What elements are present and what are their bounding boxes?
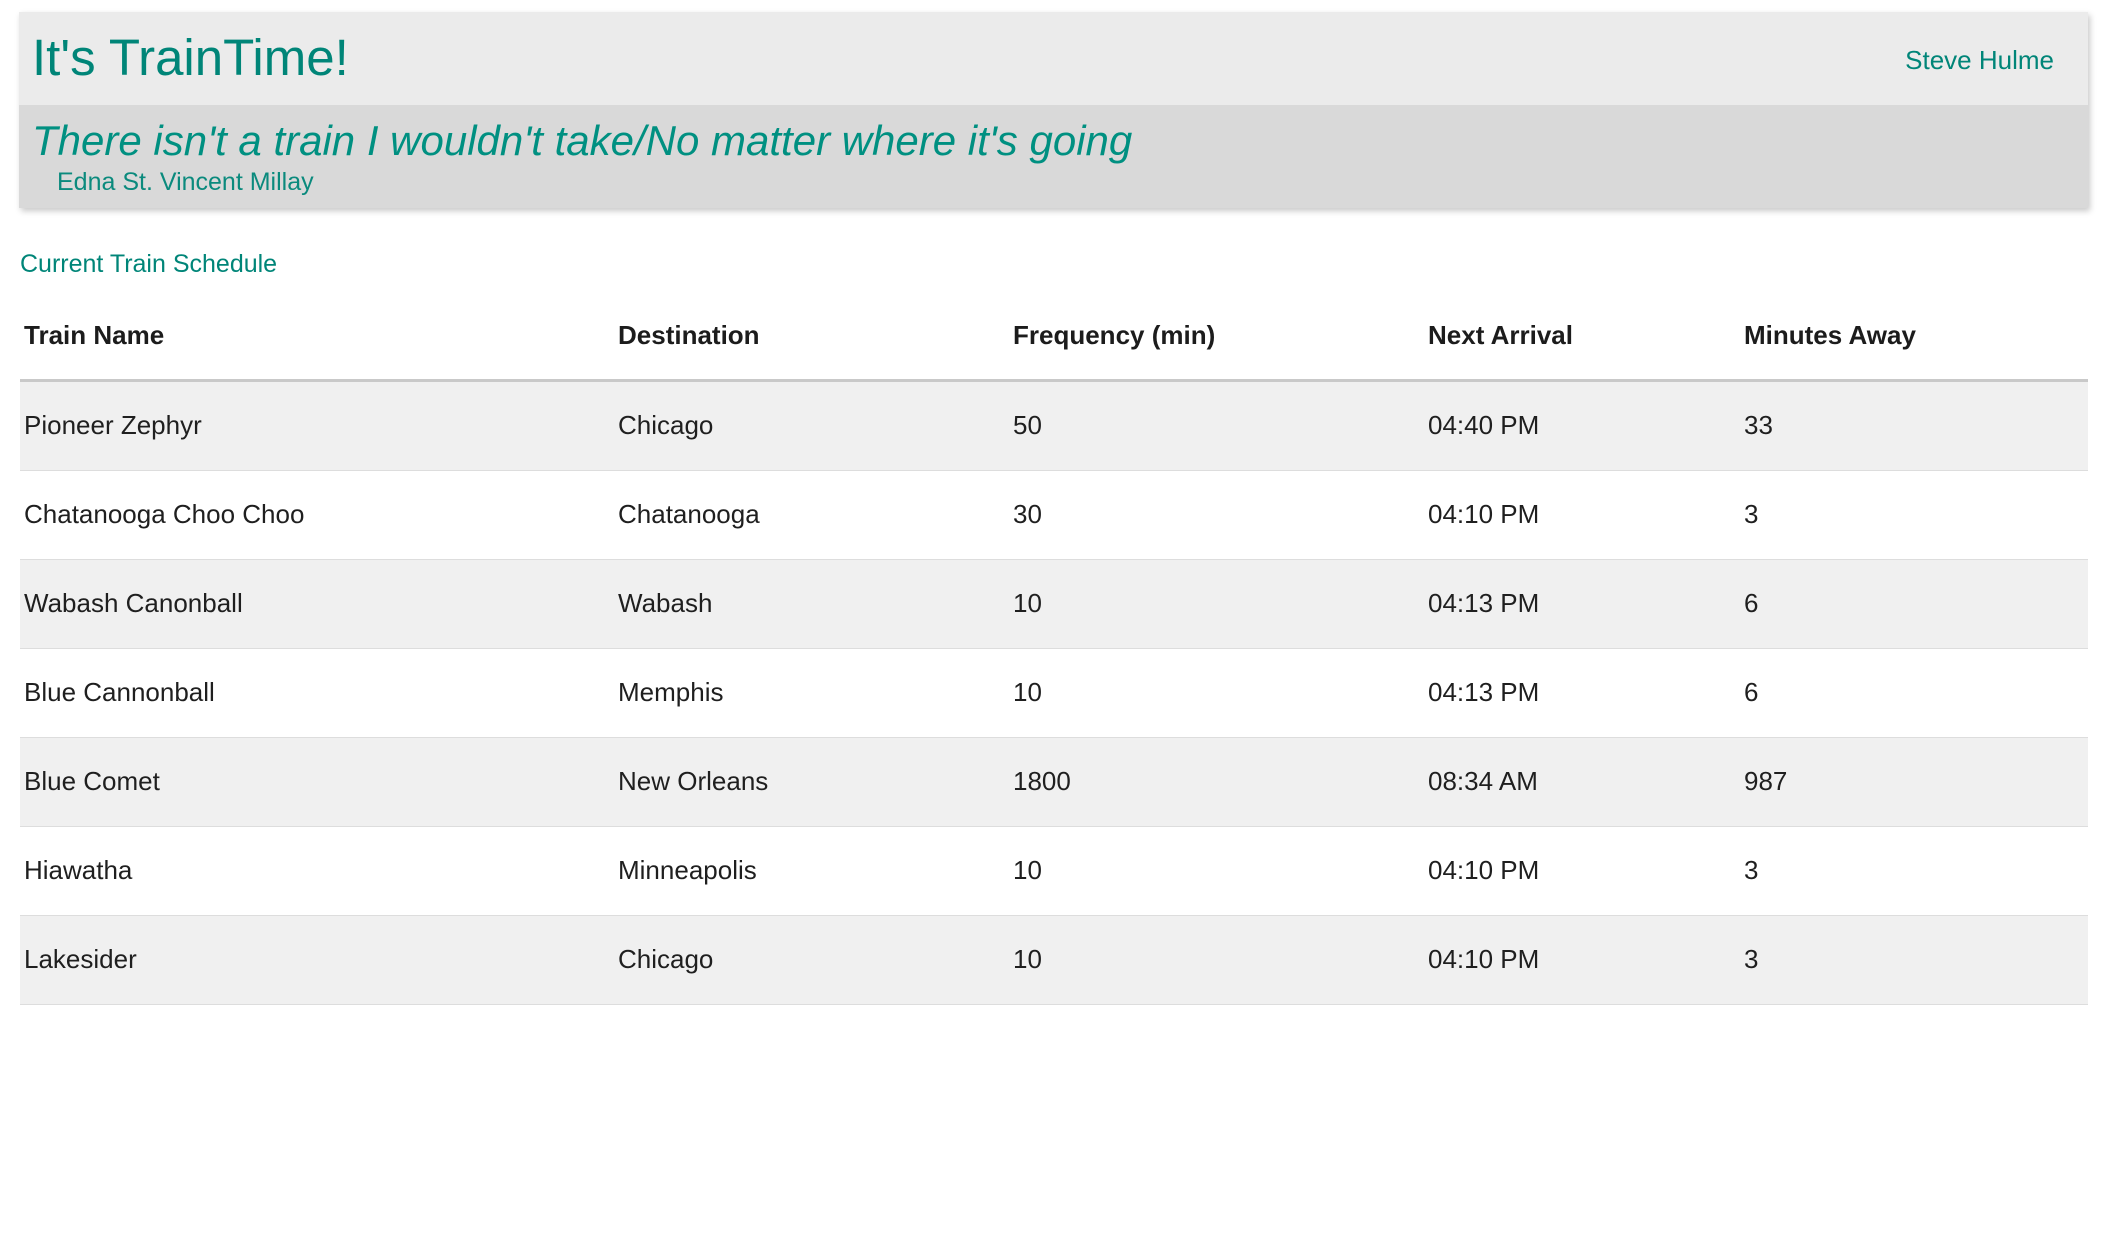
column-header-train-name: Train Name (20, 296, 614, 381)
cell-destination: Chicago (614, 381, 1009, 471)
cell-next-arrival: 04:10 PM (1424, 916, 1740, 1005)
quote-author: Edna St. Vincent Millay (57, 167, 314, 197)
cell-minutes-away: 6 (1740, 560, 2088, 649)
cell-minutes-away: 33 (1740, 381, 2088, 471)
quote-text: There isn't a train I wouldn't take/No m… (32, 115, 1132, 167)
column-header-next-arrival: Next Arrival (1424, 296, 1740, 381)
table-row: Lakesider Chicago 10 04:10 PM 3 (20, 916, 2088, 1005)
cell-frequency: 50 (1009, 381, 1424, 471)
cell-destination: Chatanooga (614, 471, 1009, 560)
table-row: Pioneer Zephyr Chicago 50 04:40 PM 33 (20, 381, 2088, 471)
header-band: It's TrainTime! Steve Hulme (19, 12, 2088, 105)
cell-frequency: 10 (1009, 916, 1424, 1005)
cell-train-name: Blue Cannonball (20, 649, 614, 738)
cell-train-name: Hiawatha (20, 827, 614, 916)
cell-frequency: 10 (1009, 649, 1424, 738)
cell-next-arrival: 04:13 PM (1424, 560, 1740, 649)
cell-frequency: 10 (1009, 560, 1424, 649)
cell-train-name: Lakesider (20, 916, 614, 1005)
cell-next-arrival: 04:13 PM (1424, 649, 1740, 738)
cell-destination: Wabash (614, 560, 1009, 649)
cell-train-name: Pioneer Zephyr (20, 381, 614, 471)
page-title: It's TrainTime! (32, 28, 349, 88)
cell-destination: Memphis (614, 649, 1009, 738)
table-row: Chatanooga Choo Choo Chatanooga 30 04:10… (20, 471, 2088, 560)
column-header-minutes-away: Minutes Away (1740, 296, 2088, 381)
user-name-link[interactable]: Steve Hulme (1905, 45, 2054, 75)
cell-minutes-away: 6 (1740, 649, 2088, 738)
cell-destination: New Orleans (614, 738, 1009, 827)
cell-train-name: Blue Comet (20, 738, 614, 827)
cell-next-arrival: 04:10 PM (1424, 827, 1740, 916)
column-header-destination: Destination (614, 296, 1009, 381)
table-header-row: Train Name Destination Frequency (min) N… (20, 296, 2088, 381)
table-header: Train Name Destination Frequency (min) N… (20, 296, 2088, 381)
cell-next-arrival: 04:10 PM (1424, 471, 1740, 560)
cell-minutes-away: 3 (1740, 827, 2088, 916)
train-schedule-table: Train Name Destination Frequency (min) N… (20, 296, 2088, 1005)
table-row: Blue Comet New Orleans 1800 08:34 AM 987 (20, 738, 2088, 827)
quote-band: There isn't a train I wouldn't take/No m… (19, 105, 2088, 208)
table-row: Hiawatha Minneapolis 10 04:10 PM 3 (20, 827, 2088, 916)
cell-train-name: Chatanooga Choo Choo (20, 471, 614, 560)
cell-minutes-away: 3 (1740, 471, 2088, 560)
cell-frequency: 1800 (1009, 738, 1424, 827)
column-header-frequency: Frequency (min) (1009, 296, 1424, 381)
header-panel: It's TrainTime! Steve Hulme There isn't … (19, 12, 2088, 208)
cell-minutes-away: 3 (1740, 916, 2088, 1005)
cell-frequency: 10 (1009, 827, 1424, 916)
table-row: Blue Cannonball Memphis 10 04:13 PM 6 (20, 649, 2088, 738)
table-body: Pioneer Zephyr Chicago 50 04:40 PM 33 Ch… (20, 381, 2088, 1005)
cell-next-arrival: 08:34 AM (1424, 738, 1740, 827)
cell-frequency: 30 (1009, 471, 1424, 560)
cell-destination: Chicago (614, 916, 1009, 1005)
cell-destination: Minneapolis (614, 827, 1009, 916)
cell-minutes-away: 987 (1740, 738, 2088, 827)
cell-train-name: Wabash Canonball (20, 560, 614, 649)
cell-next-arrival: 04:40 PM (1424, 381, 1740, 471)
current-train-schedule-link[interactable]: Current Train Schedule (20, 249, 277, 279)
table-row: Wabash Canonball Wabash 10 04:13 PM 6 (20, 560, 2088, 649)
